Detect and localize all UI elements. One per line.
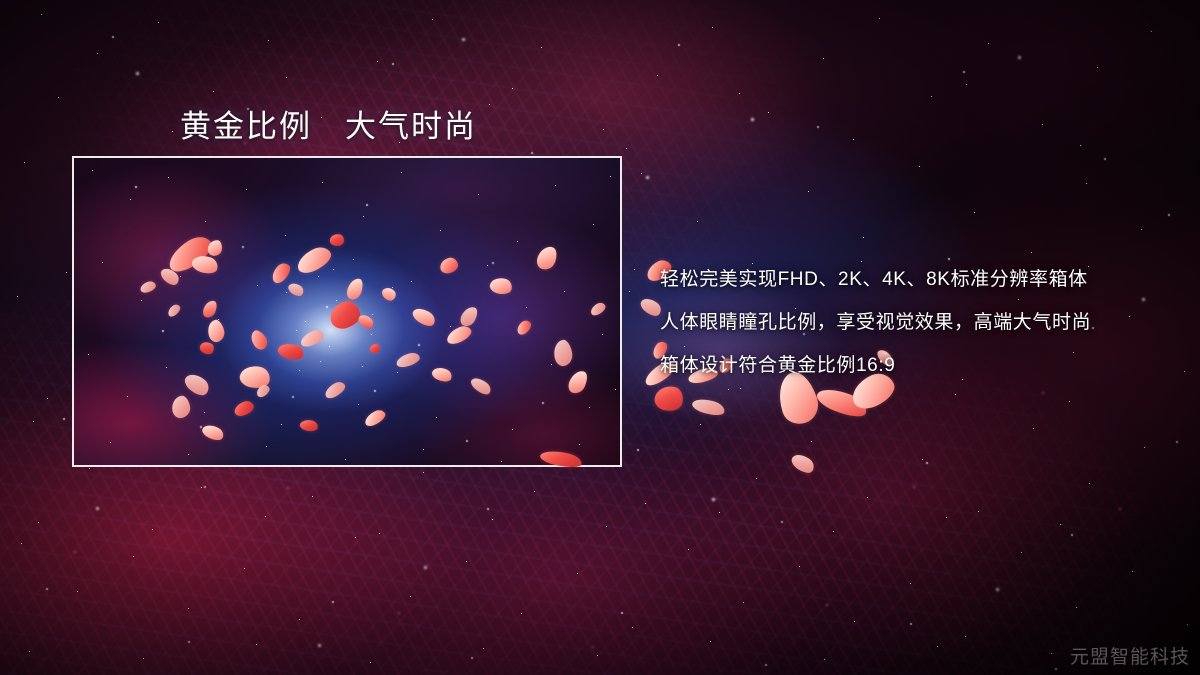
watermark: 元盟智能科技 <box>1070 642 1190 669</box>
body-line: 轻松完美实现FHD、2K、4K、8K标准分辨率箱体 <box>660 258 1180 301</box>
petal <box>789 450 817 476</box>
petal <box>652 383 685 414</box>
framed-image-starfield-bright <box>74 158 76 160</box>
petal <box>814 383 870 422</box>
body-text-block: 轻松完美实现FHD、2K、4K、8K标准分辨率箱体 人体眼睛瞳孔比例，享受视觉效… <box>660 258 1180 387</box>
page-title: 黄金比例 大气时尚 <box>180 101 477 146</box>
presentation-slide: 黄金比例 大气时尚 轻松完美实现FHD、2K、4K、8K标准分辨率箱体 人体眼睛… <box>0 0 1200 675</box>
framed-cabinet-image <box>72 156 622 467</box>
starfield-pink <box>0 0 2 2</box>
framed-image-nebula <box>74 158 620 465</box>
body-line: 箱体设计符合黄金比例16:9 <box>660 344 1180 387</box>
body-line: 人体眼睛瞳孔比例，享受视觉效果，高端大气时尚 <box>660 301 1180 344</box>
petal <box>691 396 727 419</box>
